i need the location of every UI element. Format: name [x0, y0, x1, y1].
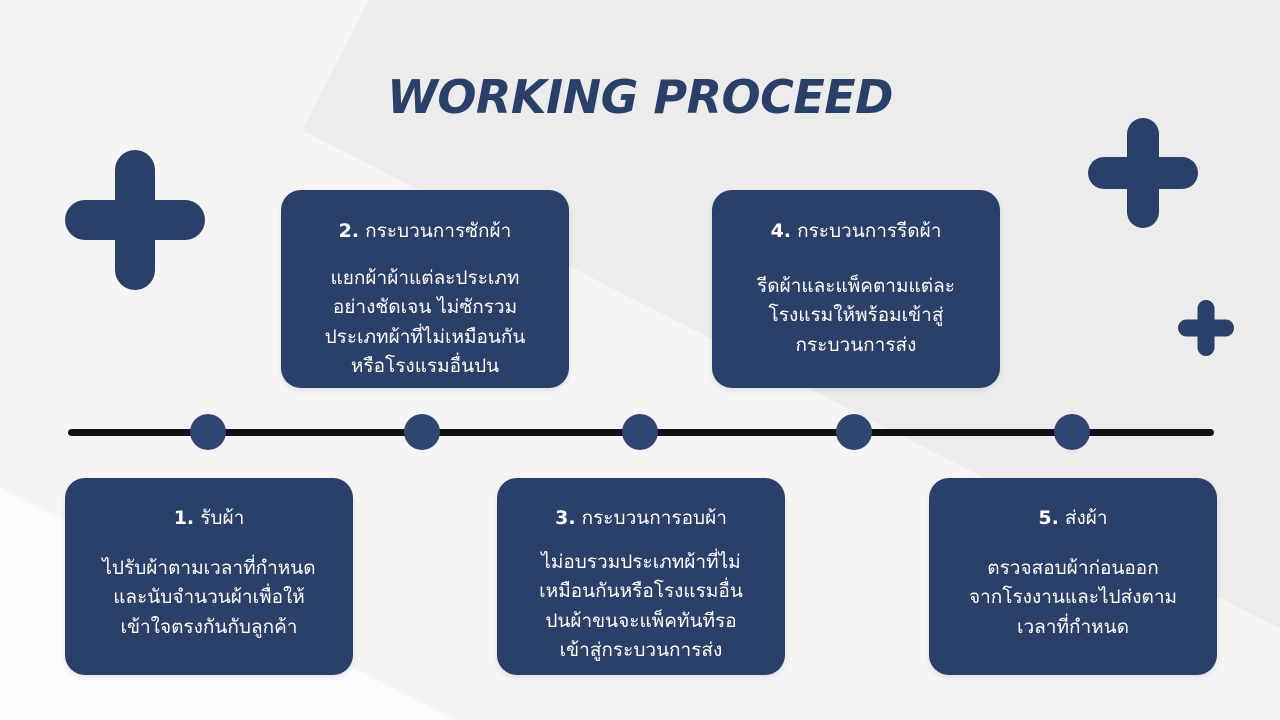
- step-heading-text: ส่งผ้า: [1065, 507, 1108, 529]
- plus-decoration-top-right-icon: [1088, 118, 1198, 228]
- step-card-1[interactable]: 1. รับผ้า ไปรับผ้าตามเวลาที่กำหนดและนับจ…: [65, 478, 353, 675]
- step-heading-text: รับผ้า: [200, 507, 244, 529]
- plus-horizontal-bar: [65, 200, 205, 240]
- plus-horizontal-bar: [1088, 157, 1198, 189]
- timeline-dot-step-1[interactable]: [190, 414, 226, 450]
- timeline-dot-step-4[interactable]: [836, 414, 872, 450]
- step-card-heading: 3. กระบวนการอบผ้า: [555, 507, 727, 531]
- plus-decoration-left-icon: [65, 150, 205, 290]
- step-card-body: ตรวจสอบผ้าก่อนออกจากโรงงานและไปส่งตามเวล…: [969, 554, 1177, 642]
- plus-horizontal-bar: [1178, 320, 1234, 337]
- timeline-dot-step-2[interactable]: [404, 414, 440, 450]
- step-card-heading: 1. รับผ้า: [174, 507, 245, 531]
- step-card-body: ไปรับผ้าตามเวลาที่กำหนดและนับจำนวนผ้าเพื…: [102, 554, 315, 642]
- step-card-5[interactable]: 5. ส่งผ้า ตรวจสอบผ้าก่อนออกจากโรงงานและไ…: [929, 478, 1217, 675]
- step-card-3[interactable]: 3. กระบวนการอบผ้า ไม่อบรวมประเภทผ้าที่ไม…: [497, 478, 785, 675]
- step-card-2[interactable]: 2. กระบวนการซักผ้า แยกผ้าผ้าแต่ละประเภทอ…: [281, 190, 569, 388]
- step-heading-text: กระบวนการซักผ้า: [365, 220, 511, 242]
- step-card-body: แยกผ้าผ้าแต่ละประเภทอย่างชัดเจน ไม่ซักรว…: [325, 264, 526, 382]
- step-card-heading: 2. กระบวนการซักผ้า: [339, 220, 512, 244]
- plus-decoration-small-right-icon: [1178, 300, 1234, 356]
- step-number: 3.: [555, 507, 575, 529]
- step-card-body: ไม่อบรวมประเภทผ้าที่ไม่เหมือนกันหรือโรงแ…: [539, 548, 743, 666]
- slide-canvas: WORKING PROCEED 1. รับผ้า ไปรับผ้าตามเวล…: [0, 0, 1280, 720]
- step-heading-text: กระบวนการอบผ้า: [582, 507, 727, 529]
- step-number: 5.: [1038, 507, 1058, 529]
- step-number: 4.: [771, 220, 791, 242]
- step-number: 1.: [174, 507, 194, 529]
- step-number: 2.: [339, 220, 359, 242]
- step-heading-text: กระบวนการรีดผ้า: [797, 220, 941, 242]
- step-card-body: รีดผ้าและแพ็คตามแต่ละโรงแรมให้พร้อมเข้าส…: [757, 272, 955, 360]
- timeline-dot-step-5[interactable]: [1054, 414, 1090, 450]
- step-card-heading: 5. ส่งผ้า: [1038, 507, 1107, 531]
- page-title: WORKING PROCEED: [0, 70, 1280, 124]
- step-card-heading: 4. กระบวนการรีดผ้า: [771, 220, 942, 244]
- timeline-dot-step-3[interactable]: [622, 414, 658, 450]
- step-card-4[interactable]: 4. กระบวนการรีดผ้า รีดผ้าและแพ็คตามแต่ละ…: [712, 190, 1000, 388]
